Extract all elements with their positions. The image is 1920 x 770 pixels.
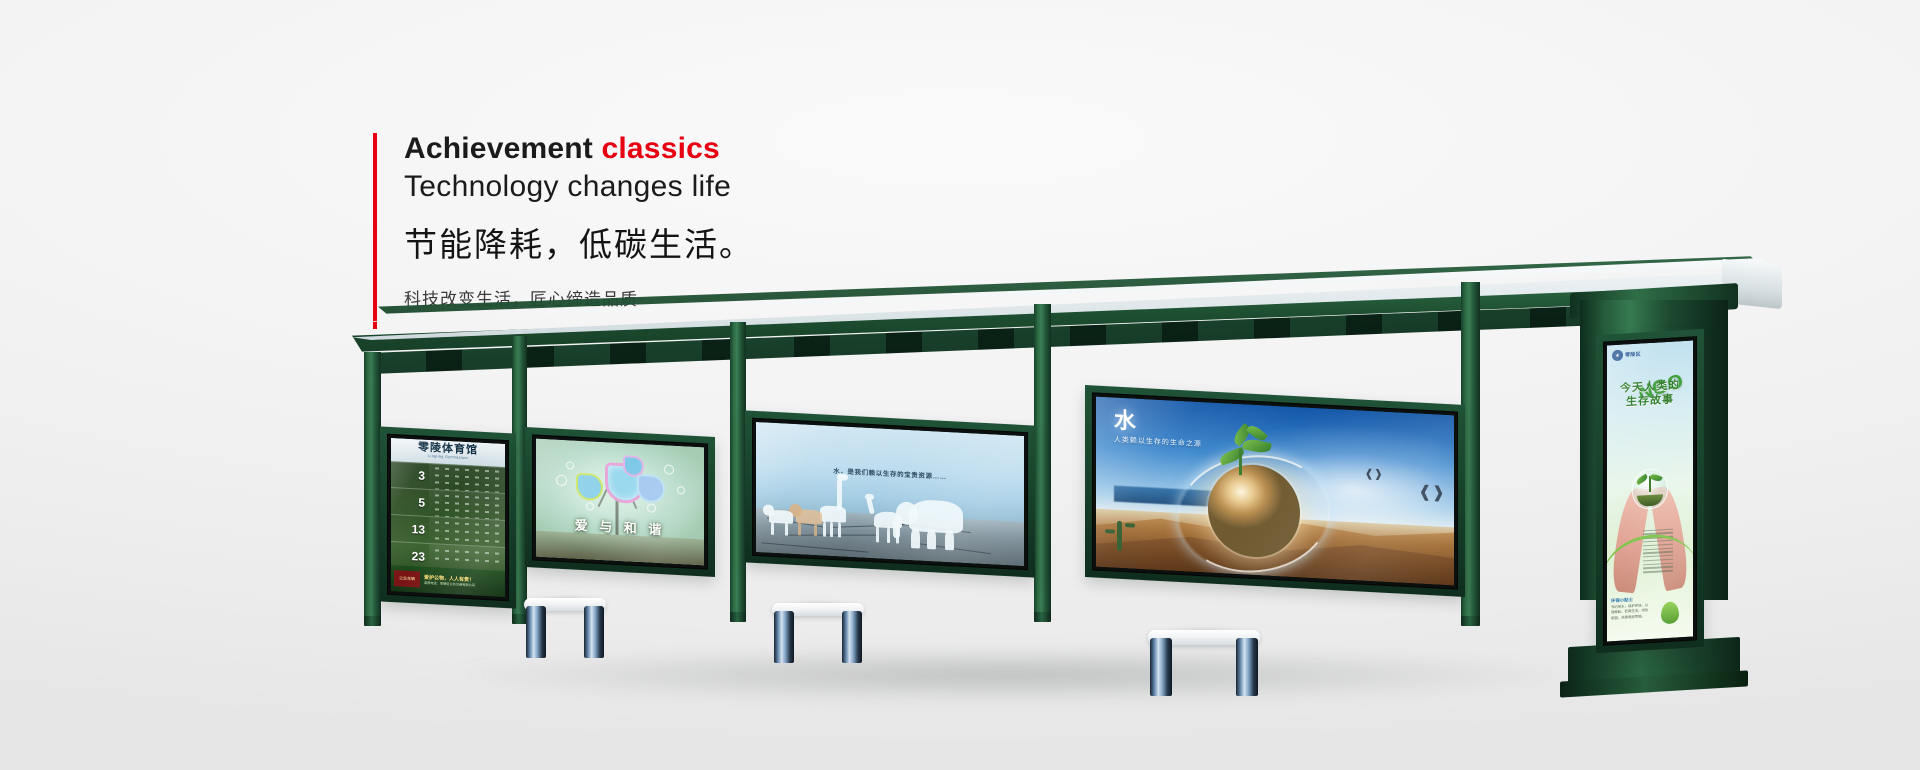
page-canvas: Achievement classics Technology changes …: [0, 0, 1920, 770]
animals-frame: 水，是我们赖以生存的宝贵资源……: [752, 418, 1028, 570]
globe-title-block: 水 人类赖以生存的生命之源: [1114, 409, 1202, 449]
zebra-icon: [769, 510, 793, 524]
globe-frame: 水 人类赖以生存的生命之源 ❰❱ ❰❱: [1092, 392, 1458, 589]
cactus-arm-icon: [1105, 529, 1115, 534]
soil: [1637, 495, 1663, 508]
bubble-icon: [677, 486, 685, 494]
bubble-icon: [664, 464, 674, 475]
bubble-icon: [586, 503, 594, 511]
route-number: 23: [391, 548, 429, 564]
animals-caption: 水，是我们赖以生存的宝贵资源……: [756, 461, 1024, 485]
timetable-content: 零陵体育馆 Lingling Gymnasium 3: [391, 438, 505, 597]
support-column-1: [364, 352, 381, 620]
ngo-logo: ★ 零陵区: [1612, 349, 1641, 362]
route-stops: [429, 463, 505, 493]
bench-leg-right: [584, 606, 604, 658]
ngo-body-text: 环保小贴士 节约用水，保护环境，从我做起，低碳生活，绿色家园，共建美丽零陵。: [1611, 596, 1651, 621]
route-stops: [429, 517, 505, 547]
globe-title: 水: [1114, 409, 1202, 436]
globe-glass: 水 人类赖以生存的生命之源 ❰❱ ❰❱: [1096, 397, 1454, 586]
timetable-rows: 3 5: [391, 461, 505, 571]
love-glass: 爱 与 和 谐: [536, 439, 704, 566]
cactus-arm-icon: [1125, 523, 1135, 528]
route-number: 3: [391, 467, 429, 483]
ngo-body-paragraph: 节约用水，保护环境，从我做起，低碳生活，绿色家园，共建美丽零陵。: [1611, 603, 1651, 622]
route-stops: [429, 490, 505, 520]
globe-poster: 水 人类赖以生存的生命之源 ❰❱ ❰❱: [1096, 397, 1454, 586]
ngo-glass: ★ 零陵区 NGO 今天人类的 生存故事: [1607, 340, 1693, 641]
camel-icon: [874, 511, 902, 528]
bench-leg-right: [842, 611, 862, 663]
animals-poster: 水，是我们赖以生存的宝贵资源……: [756, 422, 1024, 566]
love-frame: 爱 与 和 谐: [532, 434, 708, 569]
love-poster: 爱 与 和 谐: [536, 439, 704, 566]
cactus-icon: [1117, 521, 1122, 551]
timetable-glass: 零陵体育馆 Lingling Gymnasium 3: [391, 438, 505, 597]
ngo-poster-board[interactable]: ★ 零陵区 NGO 今天人类的 生存故事: [1596, 329, 1704, 653]
heart-icon-left: [576, 473, 603, 501]
station-name-en: Lingling Gymnasium: [428, 454, 468, 461]
elephant-icon: [909, 499, 963, 534]
route-timetable-board[interactable]: 零陵体育馆 Lingling Gymnasium 3: [380, 426, 516, 608]
bubble-icon: [647, 503, 656, 512]
water-resource-board[interactable]: 水，是我们赖以生存的宝贵资源……: [745, 410, 1035, 577]
ngo-poster: ★ 零陵区 NGO 今天人类的 生存故事: [1607, 340, 1693, 641]
seed-icon: [1661, 601, 1679, 624]
bench-leg-left: [526, 606, 546, 658]
giraffe-icon: [820, 506, 846, 523]
water-life-board[interactable]: 水 人类赖以生存的生命之源 ❰❱ ❰❱: [1085, 385, 1465, 597]
ngo-frame: ★ 零陵区 NGO 今天人类的 生存故事: [1603, 336, 1697, 646]
support-column-4: [1034, 304, 1051, 616]
bus-shelter: 零陵体育馆 Lingling Gymnasium 3: [0, 0, 1920, 770]
route-number: 13: [391, 521, 429, 537]
logo-mark-icon: ★: [1612, 350, 1623, 362]
logo-text: 零陵区: [1625, 351, 1641, 359]
timetable-footer: 公交车辆 爱护公物，人人有责！ 监督电话：零陵区公共交通有限公司: [391, 565, 505, 597]
animals-caption-text: 水，是我们赖以生存的宝贵资源……: [833, 468, 947, 481]
heart-icon-right: [637, 473, 665, 502]
route-number: 5: [391, 494, 429, 510]
bench-leg-right: [1236, 638, 1258, 696]
love-harmony-board[interactable]: 爱 与 和 谐: [525, 427, 715, 577]
footer-tag: 公交车辆: [394, 570, 420, 587]
bird-icon: ❰❱: [1418, 482, 1445, 503]
bench-leg-left: [774, 611, 794, 663]
timetable-frame: 零陵体育馆 Lingling Gymnasium 3: [387, 434, 509, 601]
bubble-icon: [566, 461, 574, 469]
lion-icon: [796, 509, 822, 524]
footer-message: 爱护公物，人人有责！ 监督电话：零陵区公共交通有限公司: [420, 574, 505, 589]
bench-leg-left: [1150, 638, 1172, 696]
support-column-3: [730, 322, 746, 616]
sprout-icon: [1241, 442, 1267, 454]
ngo-heading: 今天人类的 生存故事: [1607, 378, 1693, 411]
animals-glass: 水，是我们赖以生存的宝贵资源……: [756, 422, 1024, 566]
heart-icon-top: [623, 455, 644, 477]
bird-icon: ❰❱: [1365, 467, 1383, 481]
bubble-icon: [556, 475, 567, 487]
